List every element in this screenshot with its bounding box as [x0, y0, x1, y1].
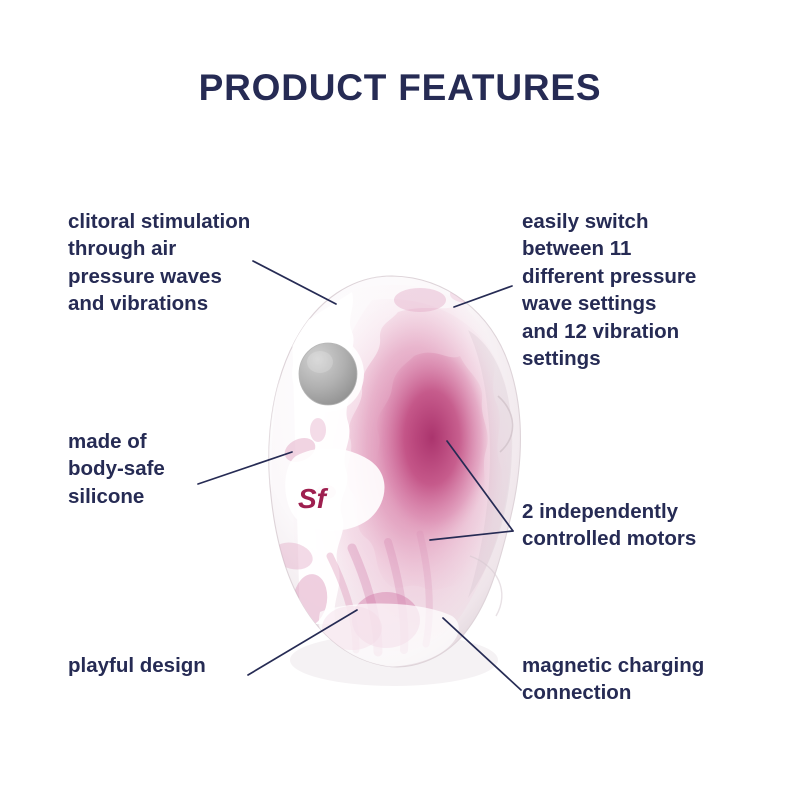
- leader-controlled-motors-lower: [430, 531, 513, 540]
- leader-pressure-settings: [454, 286, 512, 307]
- callout-magnetic-charging: magnetic charging connection: [522, 652, 772, 707]
- callout-line: wave settings: [522, 290, 772, 317]
- callout-playful-design: playful design: [68, 652, 308, 679]
- callout-pressure-settings: easily switch between 11 different press…: [522, 208, 772, 373]
- callout-line: between 11: [522, 235, 772, 262]
- callout-line: clitoral stimulation: [68, 208, 318, 235]
- feature-infographic: Sf PRODUCT FEATURES clitoral stimulation…: [0, 0, 800, 800]
- brand-logo-sf: Sf: [298, 483, 329, 514]
- callout-line: and vibrations: [68, 290, 318, 317]
- callout-line: easily switch: [522, 208, 772, 235]
- callout-line: different pressure: [522, 263, 772, 290]
- callout-clitoral-stimulation: clitoral stimulation through air pressur…: [68, 208, 318, 318]
- body-seam: [498, 396, 513, 452]
- callout-body-safe-silicone: made of body-safe silicone: [68, 428, 268, 510]
- air-pulse-opening: [292, 336, 364, 412]
- callout-line: connection: [522, 679, 772, 706]
- callout-line: pressure waves: [68, 263, 318, 290]
- body-seam-lower: [470, 556, 502, 616]
- callout-line: 2 independently: [522, 498, 772, 525]
- product-shadow: [290, 634, 498, 686]
- silicone-egg-body: [264, 276, 523, 670]
- callout-line: through air: [68, 235, 318, 262]
- callout-line: magnetic charging: [522, 652, 772, 679]
- watercolor-marbling: [264, 276, 523, 670]
- callout-line: settings: [522, 345, 772, 372]
- leader-magnetic-charging: [443, 618, 521, 690]
- callout-line: playful design: [68, 652, 308, 679]
- callout-line: silicone: [68, 483, 268, 510]
- page-title: PRODUCT FEATURES: [0, 68, 800, 109]
- callout-controlled-motors: 2 independently controlled motors: [522, 498, 772, 553]
- callout-line: and 12 vibration: [522, 318, 772, 345]
- callout-line: controlled motors: [522, 525, 772, 552]
- callout-line: made of: [68, 428, 268, 455]
- callout-line: body-safe: [68, 455, 268, 482]
- leader-controlled-motors-upper: [447, 441, 513, 531]
